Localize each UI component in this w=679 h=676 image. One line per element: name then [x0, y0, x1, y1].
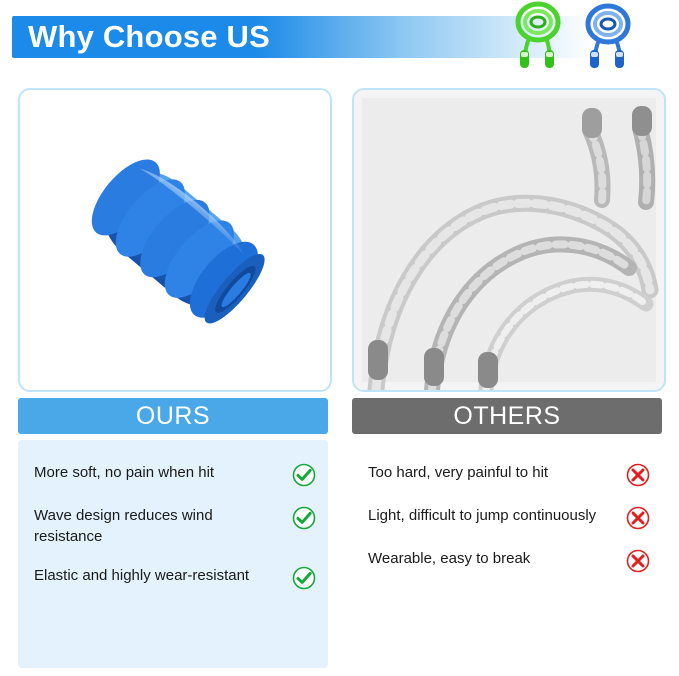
ours-label: OURS [18, 398, 328, 434]
feature-text: Too hard, very painful to hit [368, 462, 548, 483]
check-icon [292, 463, 316, 487]
ours-product-image [20, 90, 330, 390]
list-item: More soft, no pain when hit [34, 462, 316, 487]
others-feature-list: Too hard, very painful to hit Light, dif… [368, 462, 650, 591]
list-item: Wearable, easy to break [368, 548, 650, 573]
check-icon [292, 566, 316, 590]
page-title: Why Choose US [28, 18, 270, 56]
list-item: Wave design reduces wind resistance [34, 505, 316, 547]
cross-icon [626, 463, 650, 487]
feature-text: Light, difficult to jump continuously [368, 505, 596, 526]
cross-icon [626, 506, 650, 530]
green-jump-rope-icon [518, 4, 558, 68]
blue-jump-rope-icon [588, 6, 628, 68]
ours-feature-list: More soft, no pain when hit Wave design … [34, 462, 316, 608]
others-product-image [354, 90, 664, 390]
ours-product-card [18, 88, 332, 392]
list-item: Elastic and highly wear-resistant [34, 565, 316, 590]
feature-text: Wearable, easy to break [368, 548, 530, 569]
list-item: Too hard, very painful to hit [368, 462, 650, 487]
others-feature-panel: Too hard, very painful to hit Light, dif… [352, 440, 662, 668]
others-label: OTHERS [352, 398, 662, 434]
check-icon [292, 506, 316, 530]
feature-text: More soft, no pain when hit [34, 462, 214, 483]
feature-text: Elastic and highly wear-resistant [34, 565, 249, 586]
list-item: Light, difficult to jump continuously [368, 505, 650, 530]
cross-icon [626, 549, 650, 573]
ours-feature-panel: More soft, no pain when hit Wave design … [18, 440, 328, 668]
jump-rope-decoration [505, 0, 655, 70]
feature-text: Wave design reduces wind resistance [34, 505, 272, 547]
others-product-card [352, 88, 666, 392]
